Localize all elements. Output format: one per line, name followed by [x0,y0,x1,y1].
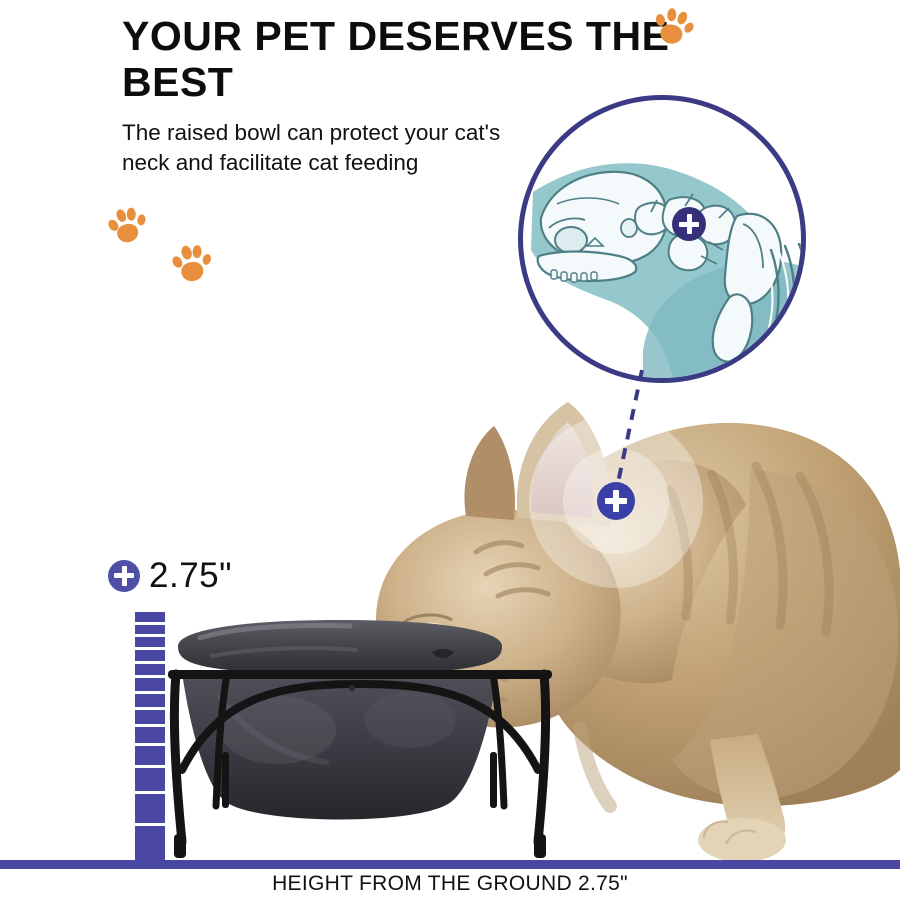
ground-line [0,860,900,869]
paw-print-icon [169,239,214,284]
footer-caption: HEIGHT FROM THE GROUND 2.75" [0,872,900,896]
plus-circle-icon [108,560,140,592]
height-value: 2.75" [149,558,232,593]
page-subtitle: The raised bowl can protect your cat's n… [122,118,522,177]
neck-marker-badge[interactable] [597,482,635,520]
inset-marker-badge[interactable] [672,207,706,241]
raised-bowl-product [160,610,560,865]
cat-neck-skeleton-diagram [518,95,806,383]
paw-print-icon [650,2,697,49]
height-measurement-label: 2.75" [108,558,232,593]
page-title: YOUR PET DESERVES THE BEST [122,14,682,106]
product-infographic: YOUR PET DESERVES THE BEST The raised bo… [0,0,900,900]
paw-print-icon [104,201,150,247]
